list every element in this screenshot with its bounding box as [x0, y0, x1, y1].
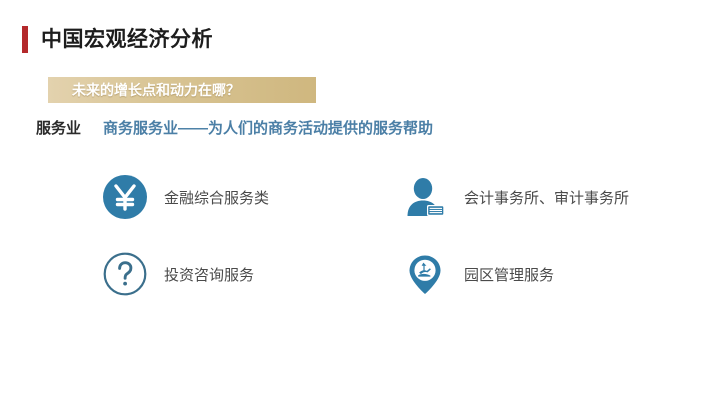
service-item-label: 金融综合服务类 — [164, 187, 269, 208]
map-pin-park-icon — [400, 249, 450, 299]
slide-title-group: 中国宏观经济分析 — [22, 24, 213, 54]
slide-canvas: 中国宏观经济分析 未来的增长点和动力在哪？ 服务业 商务服务业——为人们的商务活… — [0, 0, 720, 405]
service-item-label: 园区管理服务 — [464, 264, 554, 285]
service-items-grid: 金融综合服务类 会计事务所、 — [100, 172, 680, 299]
title-accent-bar — [22, 26, 28, 53]
yen-circle-icon — [100, 172, 150, 222]
service-item-park-management: 园区管理服务 — [400, 249, 680, 299]
highlight-banner: 未来的增长点和动力在哪？ — [48, 77, 316, 103]
service-items-row: 金融综合服务类 会计事务所、 — [100, 172, 680, 222]
service-item-label: 投资咨询服务 — [164, 264, 254, 285]
subtitle-group: 服务业 商务服务业——为人们的商务活动提供的服务帮助 — [36, 117, 433, 138]
service-items-row: 投资咨询服务 园区管理服务 — [100, 249, 680, 299]
highlight-banner-label: 未来的增长点和动力在哪？ — [72, 80, 240, 100]
service-item-accounting: 会计事务所、审计事务所 — [400, 172, 680, 222]
subtitle-description-label: 商务服务业——为人们的商务活动提供的服务帮助 — [103, 117, 433, 138]
person-badge-icon — [400, 172, 450, 222]
question-circle-icon — [100, 249, 150, 299]
service-item-financial: 金融综合服务类 — [100, 172, 400, 222]
page-title: 中国宏观经济分析 — [41, 29, 213, 50]
subtitle-category-label: 服务业 — [36, 117, 81, 138]
service-item-label: 会计事务所、审计事务所 — [464, 187, 629, 208]
service-item-consulting: 投资咨询服务 — [100, 249, 400, 299]
